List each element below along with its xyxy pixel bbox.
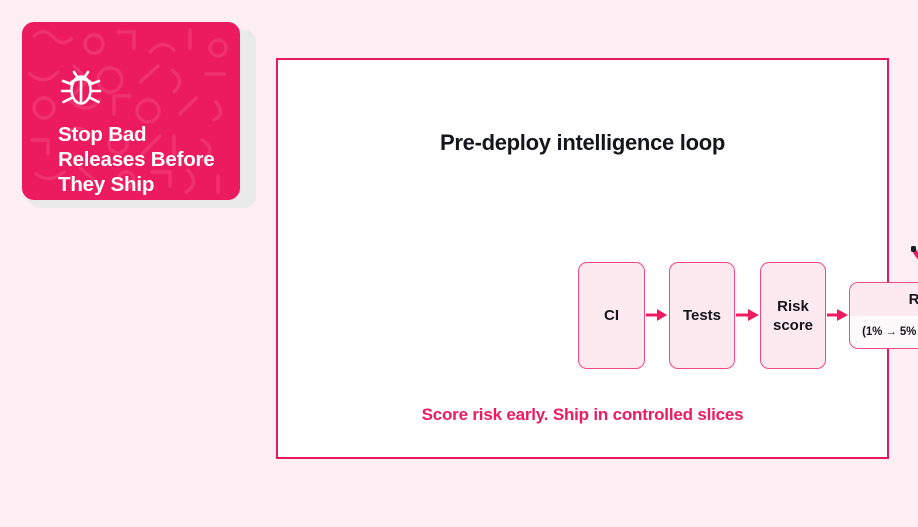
- promo-card[interactable]: Stop Bad Releases Before They Ship: [22, 22, 240, 200]
- arrow-tests-to-risk: [735, 306, 761, 324]
- arrow-ci-to-tests: [645, 306, 669, 324]
- flow-box-risk-score[interactable]: Risk score: [760, 262, 826, 369]
- diagram-panel: Pre-deploy intelligence loop CI Tests Ri…: [276, 58, 889, 459]
- diagram-title: Pre-deploy intelligence loop: [278, 130, 887, 156]
- rollout-detail: (1% → 5% → 25% → 100%): [850, 316, 918, 348]
- flow-box-label: Tests: [683, 306, 721, 325]
- flow-box-label: Risk score: [773, 297, 813, 335]
- bug-icon: [58, 62, 104, 110]
- rollout-title: Rollout: [850, 283, 918, 316]
- promo-title: Stop Bad Releases Before They Ship: [58, 122, 238, 197]
- tagline: Score risk early. Ship in controlled sli…: [278, 405, 887, 425]
- slide-canvas: Stop Bad Releases Before They Ship Pre-d…: [0, 0, 918, 527]
- flow-box-ci[interactable]: CI: [578, 262, 645, 369]
- flow-box-label: CI: [604, 306, 619, 325]
- arrow-risk-to-rollout: [826, 306, 850, 324]
- flow-box-tests[interactable]: Tests: [669, 262, 735, 369]
- robot-icon: [908, 228, 918, 286]
- flow-box-rollout[interactable]: Rollout (1% → 5% → 25% → 100%): [849, 282, 918, 349]
